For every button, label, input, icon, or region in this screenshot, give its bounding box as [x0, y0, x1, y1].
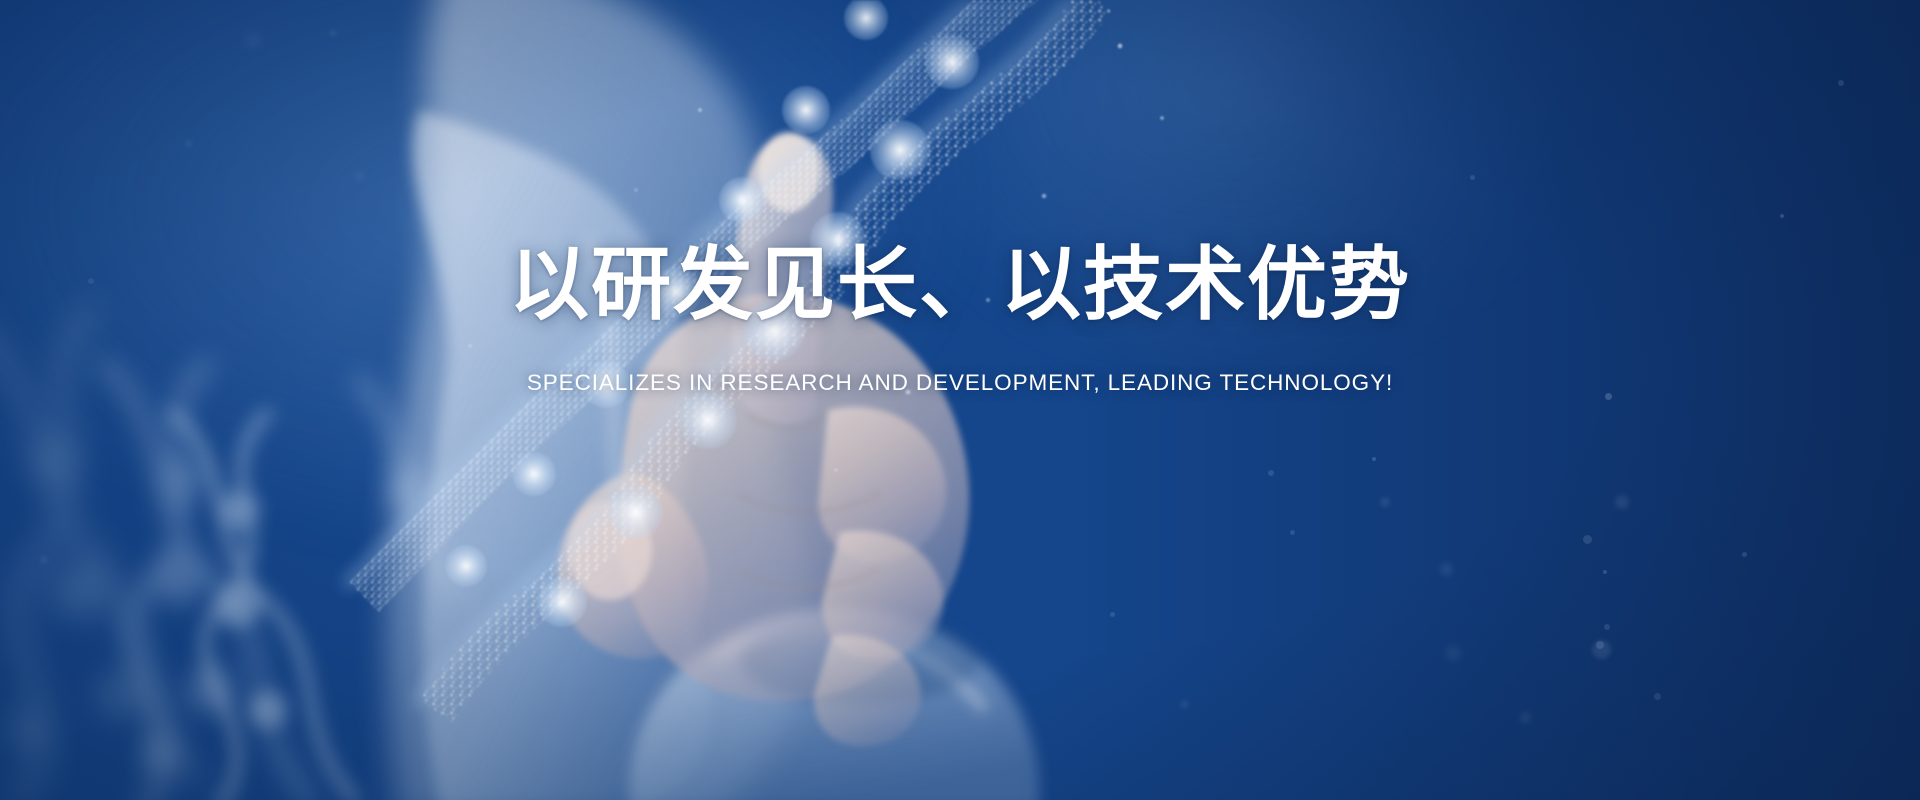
vignette-overlay: [0, 0, 1920, 800]
page-title: 以研发见长、以技术优势: [0, 243, 1920, 326]
hero-banner: 以研发见长、以技术优势 SPECIALIZES IN RESEARCH AND …: [0, 0, 1920, 800]
page-subtitle: SPECIALIZES IN RESEARCH AND DEVELOPMENT,…: [0, 370, 1920, 396]
hero-copy-block: 以研发见长、以技术优势 SPECIALIZES IN RESEARCH AND …: [0, 243, 1920, 396]
